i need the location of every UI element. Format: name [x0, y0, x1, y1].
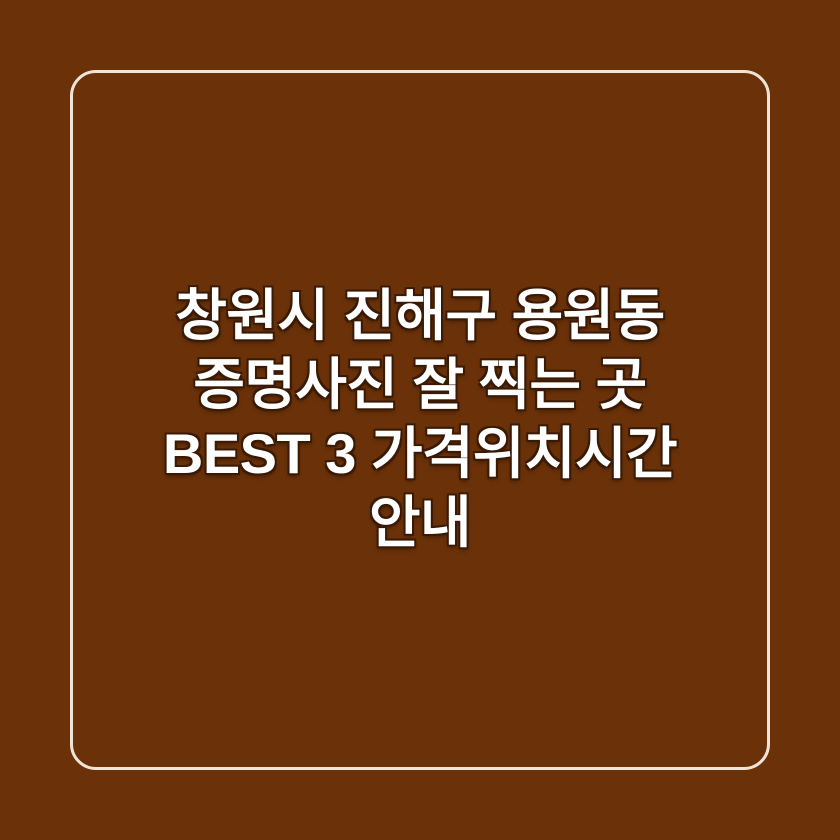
title-container: 창원시 진해구 용원동 증명사진 잘 찍는 곳 BEST 3 가격위치시간 안내 [70, 70, 770, 770]
poster-title: 창원시 진해구 용원동 증명사진 잘 찍는 곳 BEST 3 가격위치시간 안내 [163, 282, 677, 558]
poster-canvas: 창원시 진해구 용원동 증명사진 잘 찍는 곳 BEST 3 가격위치시간 안내 [0, 0, 840, 840]
